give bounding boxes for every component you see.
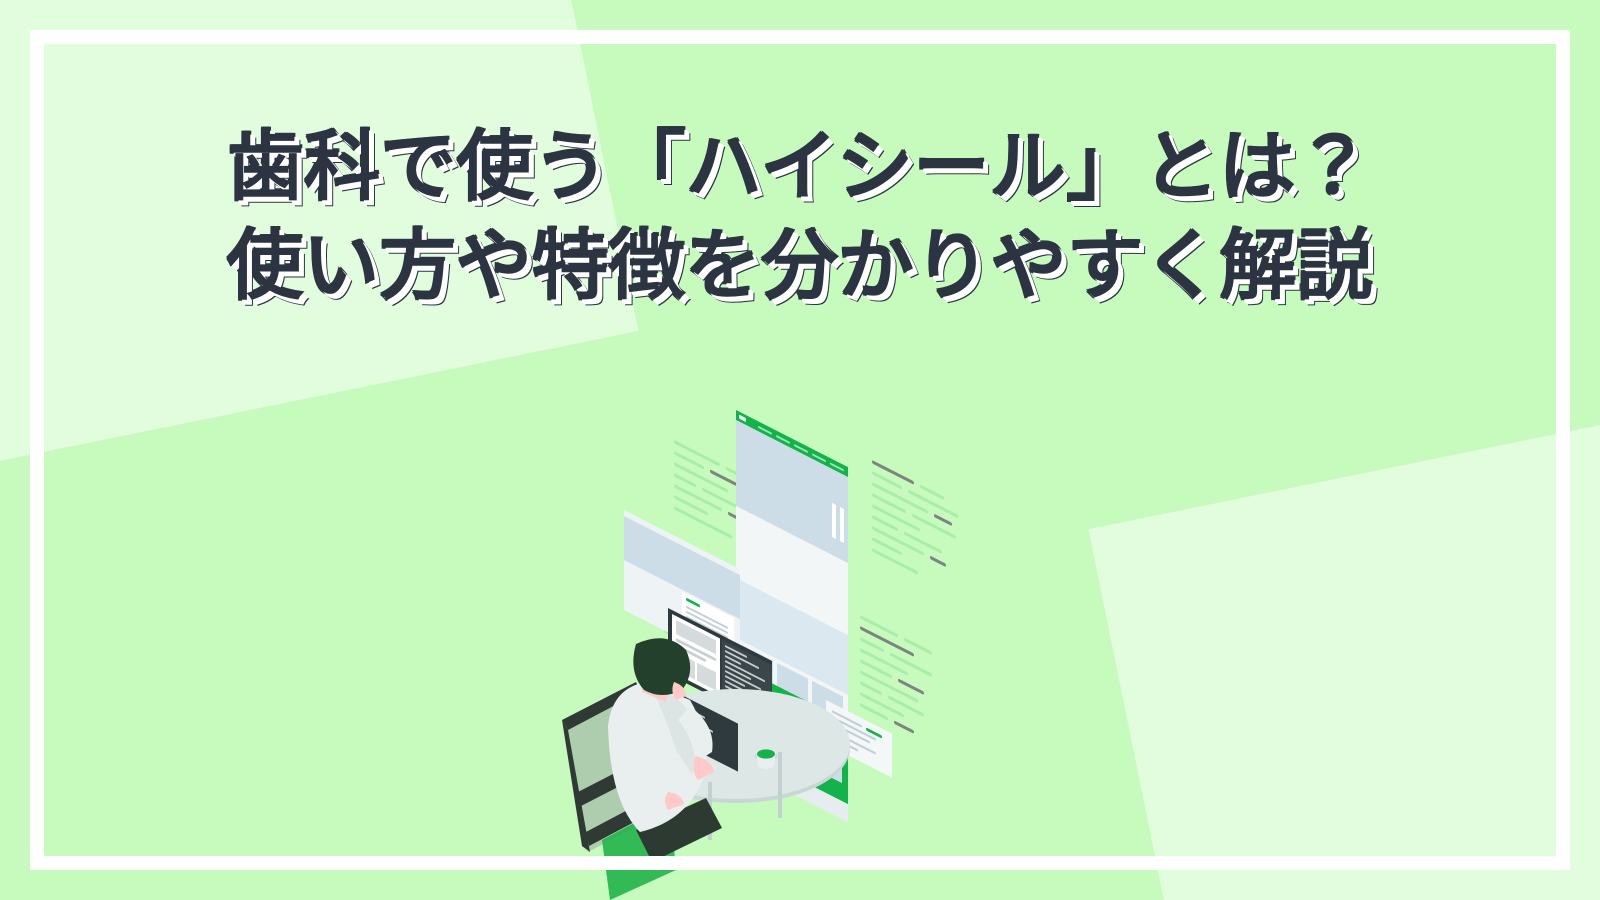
eyecatch-canvas: 歯科で使う「ハイシール」とは？ 使い方や特徴を分かりやすく解説 bbox=[0, 0, 1600, 900]
page-title-line-1: 歯科で使う「ハイシール」とは？ bbox=[0, 118, 1600, 217]
coffee-cup bbox=[755, 749, 777, 769]
isometric-developer-scene bbox=[540, 400, 1060, 900]
page-title: 歯科で使う「ハイシール」とは？ 使い方や特徴を分かりやすく解説 bbox=[0, 118, 1600, 316]
hero-illustration bbox=[540, 400, 1060, 900]
page-title-line-2: 使い方や特徴を分かりやすく解説 bbox=[0, 217, 1600, 316]
code-text-lines-right bbox=[860, 460, 958, 743]
